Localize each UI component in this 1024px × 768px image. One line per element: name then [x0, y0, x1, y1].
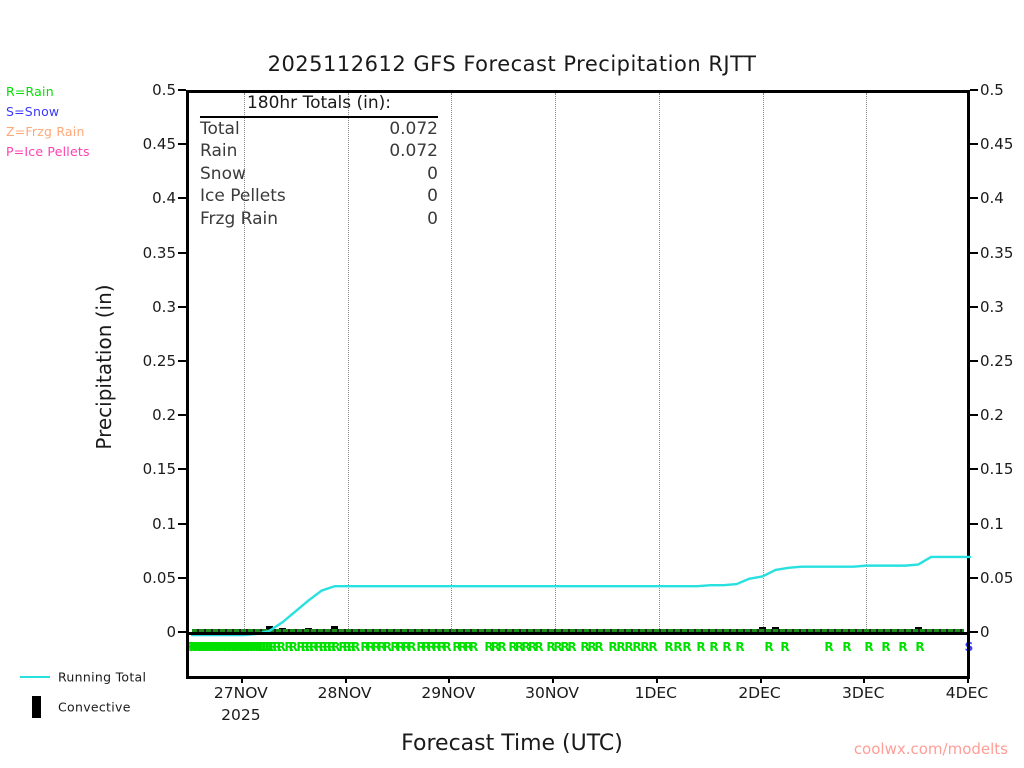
gridline-vertical [555, 93, 556, 635]
precip-type-letter: R [587, 637, 596, 657]
precip-type-letter: R [366, 637, 375, 657]
y-tick-mark-left [178, 143, 186, 145]
precip-type-letter: R [881, 637, 890, 657]
precip-type-row: RRRRRRRRRRRRRRRRRRRRRRRRRRRRRRRRRRRRRRRR… [189, 637, 967, 657]
precip-type-letter: R [327, 637, 336, 657]
y-tick-label-left: 0.35 [143, 244, 176, 262]
precip-type-letter: R [624, 637, 633, 657]
precip-type-letter: R [632, 637, 641, 657]
precip-type-letter: R [437, 637, 446, 657]
x-tick-mark [552, 676, 554, 683]
y-tick-mark-right [970, 197, 978, 199]
precip-type-letter: R [197, 637, 206, 657]
y-tick-mark-left [178, 197, 186, 199]
precip-type-letter: R [764, 637, 773, 657]
y-tick-label-right: 0.3 [980, 298, 1004, 316]
y-tick-label-right: 0.2 [980, 406, 1004, 424]
precip-type-letter: R [383, 637, 392, 657]
precip-key-item-frzg-rain: Z=Frzg Rain [6, 122, 90, 142]
precip-type-letter: R [377, 637, 386, 657]
right-axis-spine-lower [967, 632, 970, 679]
x-tick-label: 2DEC [738, 684, 780, 702]
totals-value-ice-pellets: 0 [368, 185, 438, 208]
y-tick-label-left: 0.45 [143, 135, 176, 153]
totals-box: 180hr Totals (in): Total 0.072 Rain 0.07… [190, 90, 458, 230]
precip-type-letter: R [722, 637, 731, 657]
precip-type-letter: R [205, 637, 214, 657]
y-tick-label-right: 0 [980, 623, 990, 641]
y-tick-label-right: 0.05 [980, 569, 1013, 587]
precip-type-letter: R [594, 637, 603, 657]
y-tick-label-right: 0.5 [980, 81, 1004, 99]
precip-type-letter: R [464, 637, 473, 657]
y-tick-mark-left [178, 468, 186, 470]
precip-type-letter: R [515, 637, 524, 657]
precip-type-letter: R [608, 637, 617, 657]
precip-type-letter: R [199, 637, 208, 657]
precip-type-letter: R [442, 637, 451, 657]
precip-type-letter: R [396, 637, 405, 657]
precip-type-letter: R [432, 637, 441, 657]
precip-type-letter: R [347, 637, 356, 657]
x-tick-label: 27NOV [214, 684, 268, 702]
x-tick-mark [863, 676, 865, 683]
y-tick-mark-left [178, 89, 186, 91]
y-tick-mark-right [970, 143, 978, 145]
precip-type-letter: R [284, 637, 293, 657]
precip-type-letter: R [351, 637, 360, 657]
y-tick-mark-right [970, 414, 978, 416]
precip-type-letter: R [252, 637, 261, 657]
precip-type-letter: R [534, 637, 543, 657]
convective-bar-cap [772, 627, 779, 631]
precip-type-letter: R [664, 637, 673, 657]
precip-type-letter: R [780, 637, 789, 657]
precip-type-key: R=Rain S=Snow Z=Frzg Rain P=Ice Pellets [6, 82, 90, 162]
convective-bar-cap [915, 627, 922, 631]
y-axis-right-ticks: 00.050.10.150.20.250.30.350.40.450.5 [980, 0, 1024, 768]
x-tick-label: 29NOV [421, 684, 475, 702]
y-tick-label-left: 0.2 [152, 406, 176, 424]
precip-type-letter: R [864, 637, 873, 657]
legend-label-convective: Convective [58, 700, 131, 715]
totals-row: Ice Pellets 0 [200, 185, 438, 208]
totals-label-total: Total [200, 118, 240, 141]
y-axis-left-ticks: 00.050.10.150.20.250.30.350.40.450.5 [128, 0, 176, 768]
x-tick-mark [760, 676, 762, 683]
precip-type-letter: R [407, 637, 416, 657]
precip-type-letter: R [244, 637, 253, 657]
x-tick-label: 28NOV [318, 684, 372, 702]
precip-type-letter: R [202, 637, 211, 657]
precip-type-letter: R [192, 637, 201, 657]
precip-type-letter: R [207, 637, 216, 657]
x-tick-label: 3DEC [842, 684, 884, 702]
x-tick-mark [241, 676, 243, 683]
precip-type-letter: R [246, 637, 255, 657]
y-tick-mark-left [178, 577, 186, 579]
precip-type-letter: R [452, 637, 461, 657]
precip-type-letter: R [567, 637, 576, 657]
precip-key-item-ice-pellets: P=Ice Pellets [6, 142, 90, 162]
totals-box-heading: 180hr Totals (in): [200, 92, 438, 118]
y-tick-mark-left [178, 360, 186, 362]
precip-type-letter: R [301, 637, 310, 657]
precip-type-letter: R [484, 637, 493, 657]
precip-type-letter: R [239, 637, 248, 657]
convective-bar-swatch [32, 696, 41, 718]
y-tick-label-right: 0.4 [980, 189, 1004, 207]
y-tick-mark-left [178, 252, 186, 254]
precip-type-letter: R [241, 637, 250, 657]
totals-value-total: 0.072 [368, 118, 438, 141]
y-tick-mark-right [970, 89, 978, 91]
x-tick-label: 1DEC [635, 684, 677, 702]
legend-entry-convective: Convective [10, 692, 185, 722]
totals-value-rain: 0.072 [368, 140, 438, 163]
totals-value-snow: 0 [368, 163, 438, 186]
precip-type-letter: R [402, 637, 411, 657]
x-tick-label: 30NOV [525, 684, 579, 702]
x-axis-year-label: 2025 [221, 706, 260, 724]
y-tick-label-right: 0.15 [980, 460, 1013, 478]
precip-type-letter: R [360, 637, 369, 657]
precip-type-letter: R [236, 637, 245, 657]
precip-type-letter: R [546, 637, 555, 657]
precip-type-letter: R [343, 637, 352, 657]
totals-label-snow: Snow [200, 163, 246, 186]
precip-type-letter: R [580, 637, 589, 657]
precip-type-letter: R [223, 637, 232, 657]
x-tick-mark [967, 676, 969, 683]
precip-type-letter: R [469, 637, 478, 657]
y-tick-mark-right [970, 252, 978, 254]
precip-type-letter: R [319, 637, 328, 657]
precip-type-letter: R [226, 637, 235, 657]
footer-credit: coolwx.com/modelts [854, 740, 1008, 758]
precip-type-letter: R [458, 637, 467, 657]
precip-type-letter: R [898, 637, 907, 657]
running-total-line-swatch [20, 676, 50, 678]
totals-label-ice-pellets: Ice Pellets [200, 185, 286, 208]
y-tick-label-right: 0.45 [980, 135, 1013, 153]
precip-type-letter: R [305, 637, 314, 657]
precip-type-letter: R [422, 637, 431, 657]
precip-type-letter: R [289, 637, 298, 657]
x-tick-mark [345, 676, 347, 683]
precip-type-letter: R [228, 637, 237, 657]
legend-label-running-total: Running Total [58, 670, 146, 685]
precip-type-letter: R [528, 637, 537, 657]
precip-type-letter: R [314, 637, 323, 657]
precip-type-letter: R [296, 637, 305, 657]
totals-row: Snow 0 [200, 163, 438, 186]
precip-type-letter: R [277, 637, 286, 657]
y-tick-mark-right [970, 631, 978, 633]
y-tick-mark-left [178, 306, 186, 308]
precip-type-letter: R [254, 637, 263, 657]
precip-type-letter: R [673, 637, 682, 657]
precip-type-letter: R [560, 637, 569, 657]
convective-bar-cap [331, 626, 338, 630]
y-tick-label-left: 0.3 [152, 298, 176, 316]
precip-type-letter: R [265, 637, 274, 657]
precip-type-letter: R [616, 637, 625, 657]
precip-type-letter: R [194, 637, 203, 657]
precip-type-letter: R [323, 637, 332, 657]
y-axis-title: Precipitation (in) [92, 217, 116, 517]
precip-type-letter: R [735, 637, 744, 657]
gridline-vertical [866, 93, 867, 635]
x-tick-label: 4DEC [946, 684, 988, 702]
totals-row: Rain 0.072 [200, 140, 438, 163]
precip-type-letter: R [268, 637, 277, 657]
precip-type-letter: R [212, 637, 221, 657]
precip-type-letter: R [416, 637, 425, 657]
precip-type-letter: R [372, 637, 381, 657]
y-tick-mark-right [970, 577, 978, 579]
y-tick-mark-left [178, 414, 186, 416]
precip-type-letter: R [427, 637, 436, 657]
totals-row: Total 0.072 [200, 118, 438, 141]
y-tick-label-left: 0.5 [152, 81, 176, 99]
left-axis-spine-lower [186, 632, 189, 679]
precip-type-letter: R [210, 637, 219, 657]
precip-type-letter: R [696, 637, 705, 657]
precip-type-letter: R [220, 637, 229, 657]
precip-type-letter: R [189, 637, 198, 657]
precip-type-letter: R [390, 637, 399, 657]
y-tick-mark-right [970, 468, 978, 470]
y-tick-label-left: 0 [166, 623, 176, 641]
series-legend: Running Total Convective [10, 662, 185, 722]
precip-type-letter: R [233, 637, 242, 657]
y-tick-label-left: 0.05 [143, 569, 176, 587]
precip-type-letter: R [497, 637, 506, 657]
precip-type-letter: R [842, 637, 851, 657]
precip-type-letter: R [272, 637, 281, 657]
y-tick-mark-left [178, 631, 186, 633]
x-tick-mark [656, 676, 658, 683]
totals-value-frzg-rain: 0 [368, 208, 438, 231]
y-tick-label-right: 0.25 [980, 352, 1013, 370]
x-axis-outer-line [186, 676, 970, 679]
totals-label-frzg-rain: Frzg Rain [200, 208, 278, 231]
precip-key-item-rain: R=Rain [6, 82, 90, 102]
y-tick-mark-right [970, 306, 978, 308]
precip-type-letter: R [709, 637, 718, 657]
x-tick-mark [448, 676, 450, 683]
precip-type-letter: R [640, 637, 649, 657]
y-tick-mark-right [970, 360, 978, 362]
convective-bar-cap [266, 626, 273, 630]
x-axis-baseline [186, 632, 970, 635]
precip-type-letter: R [508, 637, 517, 657]
y-tick-label-left: 0.1 [152, 515, 176, 533]
precip-type-letter: R [824, 637, 833, 657]
y-tick-label-left: 0.25 [143, 352, 176, 370]
precip-type-letter: R [682, 637, 691, 657]
precip-type-letter: R [915, 637, 924, 657]
precip-type-letter: R [231, 637, 240, 657]
precip-type-letter: R [261, 637, 270, 657]
precip-type-letter: R [309, 637, 318, 657]
precip-type-letter: R [258, 637, 267, 657]
gridline-vertical [659, 93, 660, 635]
precip-type-letter: R [553, 637, 562, 657]
precip-type-letter: R [521, 637, 530, 657]
precip-type-letter: R [648, 637, 657, 657]
totals-row: Frzg Rain 0 [200, 208, 438, 231]
precip-type-letter: R [218, 637, 227, 657]
precip-type-letter: R [249, 637, 258, 657]
precip-type-letter: R [215, 637, 224, 657]
y-tick-label-left: 0.15 [143, 460, 176, 478]
precip-type-letter: R [491, 637, 500, 657]
legend-entry-running-total: Running Total [10, 662, 185, 692]
y-tick-label-right: 0.35 [980, 244, 1013, 262]
totals-label-rain: Rain [200, 140, 237, 163]
gridline-vertical [763, 93, 764, 635]
y-tick-mark-right [970, 523, 978, 525]
y-tick-label-right: 0.1 [980, 515, 1004, 533]
precip-type-letter: R [338, 637, 347, 657]
precip-type-letter: R [331, 637, 340, 657]
y-tick-mark-left [178, 523, 186, 525]
precip-key-item-snow: S=Snow [6, 102, 90, 122]
y-tick-label-left: 0.4 [152, 189, 176, 207]
